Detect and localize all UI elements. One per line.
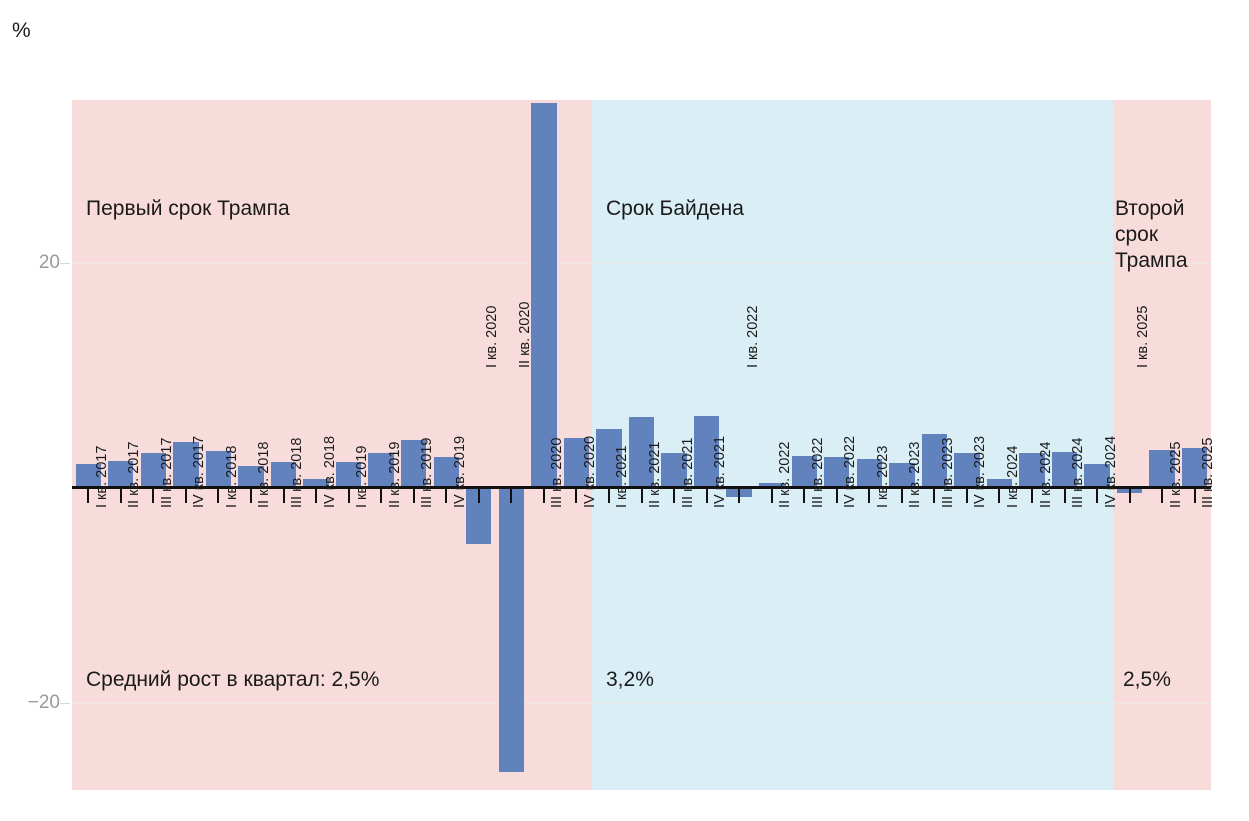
x-axis-label: III кв. 2025 [1200, 438, 1216, 508]
x-axis-label: I кв. 2019 [354, 446, 370, 508]
x-axis-label: I кв. 2024 [1005, 446, 1021, 508]
x-axis-label: I кв. 2017 [94, 446, 110, 508]
x-axis-label: III кв. 2020 [549, 438, 565, 508]
y-gridline-stub-minus20 [60, 703, 70, 704]
x-axis-label: I кв. 2025 [1135, 306, 1151, 368]
x-axis-label: III кв. 2022 [810, 438, 826, 508]
x-axis-label: IV кв. 2021 [712, 436, 728, 508]
x-axis-label: IV кв. 2024 [1103, 436, 1119, 508]
x-axis-label: II кв. 2020 [517, 302, 533, 368]
x-axis-label: IV кв. 2017 [191, 436, 207, 508]
x-axis-label: IV кв. 2018 [322, 436, 338, 508]
y-axis-tick-minus20: −20 [28, 692, 60, 714]
x-axis-label: I кв. 2023 [875, 446, 891, 508]
x-axis-labels: I кв. 2017II кв. 2017III кв. 2017IV кв. … [72, 100, 1211, 800]
x-axis-label: II кв. 2017 [126, 442, 142, 508]
x-axis-label: II кв. 2022 [777, 442, 793, 508]
x-axis-label: III кв. 2021 [680, 438, 696, 508]
x-axis-label: III кв. 2017 [159, 438, 175, 508]
x-axis-label: II кв. 2021 [647, 442, 663, 508]
x-axis-label: IV кв. 2020 [582, 436, 598, 508]
x-axis-label: III кв. 2024 [1070, 438, 1086, 508]
x-axis-label: II кв. 2023 [907, 442, 923, 508]
x-axis-label: I кв. 2020 [484, 306, 500, 368]
x-axis-label: II кв. 2019 [387, 442, 403, 508]
x-axis-label: III кв. 2018 [289, 438, 305, 508]
x-axis-label: II кв. 2024 [1038, 442, 1054, 508]
x-axis-label: I кв. 2022 [745, 306, 761, 368]
x-axis-label: II кв. 2018 [256, 442, 272, 508]
chart-root: % 20 −20 Первый срок Трампа Срок Байдена… [0, 0, 1249, 821]
y-axis-tick-20: 20 [39, 252, 60, 274]
x-axis-label: III кв. 2019 [419, 438, 435, 508]
x-axis-label: III кв. 2023 [940, 438, 956, 508]
x-axis-label: IV кв. 2019 [452, 436, 468, 508]
x-axis-label: IV кв. 2022 [842, 436, 858, 508]
y-axis-unit-label: % [12, 20, 31, 41]
x-axis-label: II кв. 2025 [1168, 442, 1184, 508]
x-axis-label: I кв. 2018 [224, 446, 240, 508]
x-axis-label: IV кв. 2023 [972, 436, 988, 508]
y-gridline-stub-20 [60, 263, 70, 264]
x-axis-label: I кв. 2021 [614, 446, 630, 508]
